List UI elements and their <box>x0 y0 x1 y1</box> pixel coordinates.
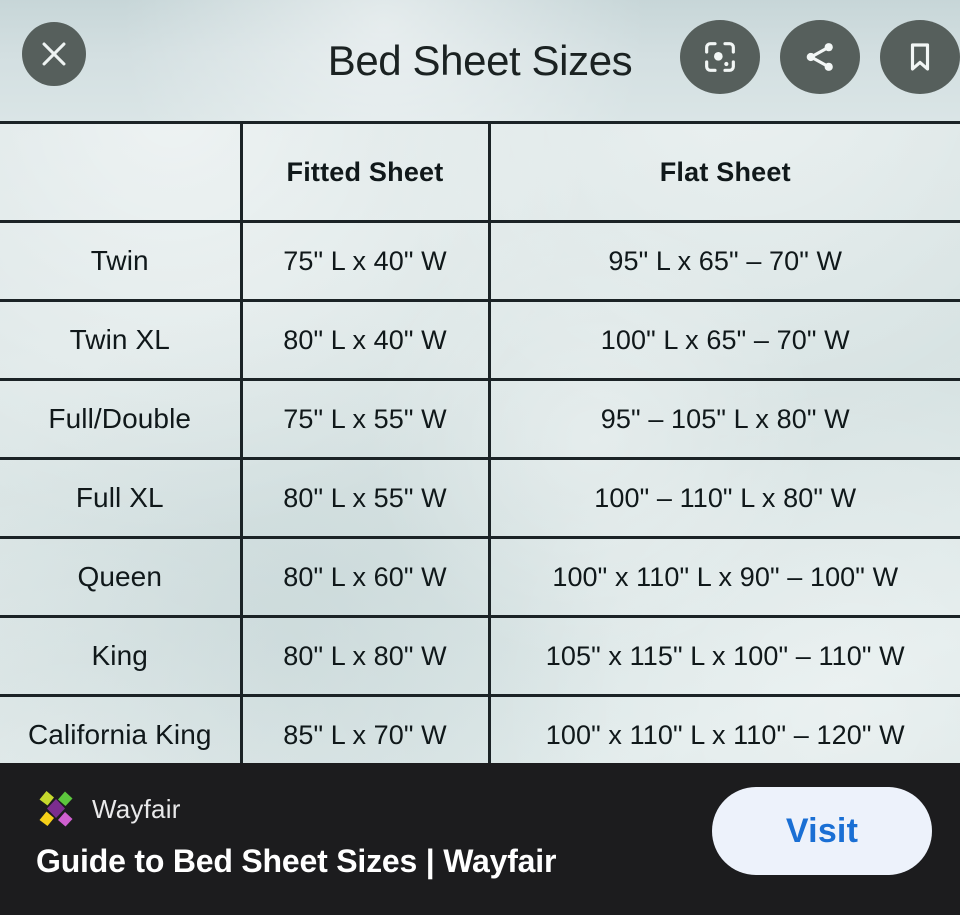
column-header-fitted-sheet: Fitted Sheet <box>241 123 489 222</box>
bed-sheet-sizes-table: Fitted Sheet Flat Sheet Twin 75" L x 40"… <box>0 121 960 776</box>
share-button[interactable] <box>780 20 860 94</box>
cell-fitted: 80" L x 80" W <box>241 617 489 696</box>
cell-flat: 100" x 110" L x 90" – 100" W <box>489 538 960 617</box>
ad-headline: Guide to Bed Sheet Sizes | Wayfair <box>36 843 556 880</box>
cell-size: Queen <box>0 538 241 617</box>
google-lens-icon <box>700 37 740 77</box>
cell-fitted: 75" L x 55" W <box>241 380 489 459</box>
screenshot-root: Bed Sheet Sizes <box>0 0 960 915</box>
cell-fitted: 80" L x 60" W <box>241 538 489 617</box>
cell-size: Full/Double <box>0 380 241 459</box>
ad-banner[interactable]: Wayfair Guide to Bed Sheet Sizes | Wayfa… <box>0 763 960 915</box>
cell-size: Full XL <box>0 459 241 538</box>
wayfair-logo-icon <box>34 787 78 831</box>
table-row: Twin XL 80" L x 40" W 100" L x 65" – 70"… <box>0 301 960 380</box>
table-header-row: Fitted Sheet Flat Sheet <box>0 123 960 222</box>
table-row: Full/Double 75" L x 55" W 95" – 105" L x… <box>0 380 960 459</box>
cell-flat: 95" – 105" L x 80" W <box>489 380 960 459</box>
visit-button[interactable]: Visit <box>712 787 932 875</box>
bookmark-icon <box>902 39 938 75</box>
cell-fitted: 80" L x 40" W <box>241 301 489 380</box>
column-header-size <box>0 123 241 222</box>
table-row: Queen 80" L x 60" W 100" x 110" L x 90" … <box>0 538 960 617</box>
visit-button-label: Visit <box>786 812 858 851</box>
cell-flat: 100" L x 65" – 70" W <box>489 301 960 380</box>
cell-size: King <box>0 617 241 696</box>
table-row: Full XL 80" L x 55" W 100" – 110" L x 80… <box>0 459 960 538</box>
column-header-flat-sheet: Flat Sheet <box>489 123 960 222</box>
cell-fitted: 80" L x 55" W <box>241 459 489 538</box>
top-header-bar: Bed Sheet Sizes <box>0 0 960 121</box>
advertiser-row: Wayfair <box>34 787 181 831</box>
cell-flat: 95" L x 65" – 70" W <box>489 222 960 301</box>
bed-sheet-sizes-table-container: Fitted Sheet Flat Sheet Twin 75" L x 40"… <box>0 121 960 763</box>
close-icon <box>37 37 71 71</box>
cell-size: Twin XL <box>0 301 241 380</box>
google-lens-button[interactable] <box>680 20 760 94</box>
share-icon <box>801 38 839 76</box>
advertiser-name: Wayfair <box>92 794 181 825</box>
close-button[interactable] <box>22 22 86 86</box>
table-row: King 80" L x 80" W 105" x 115" L x 100" … <box>0 617 960 696</box>
cell-fitted: 75" L x 40" W <box>241 222 489 301</box>
cell-flat: 105" x 115" L x 100" – 110" W <box>489 617 960 696</box>
table-row: Twin 75" L x 40" W 95" L x 65" – 70" W <box>0 222 960 301</box>
bookmark-button[interactable] <box>880 20 960 94</box>
cell-size: Twin <box>0 222 241 301</box>
cell-flat: 100" – 110" L x 80" W <box>489 459 960 538</box>
